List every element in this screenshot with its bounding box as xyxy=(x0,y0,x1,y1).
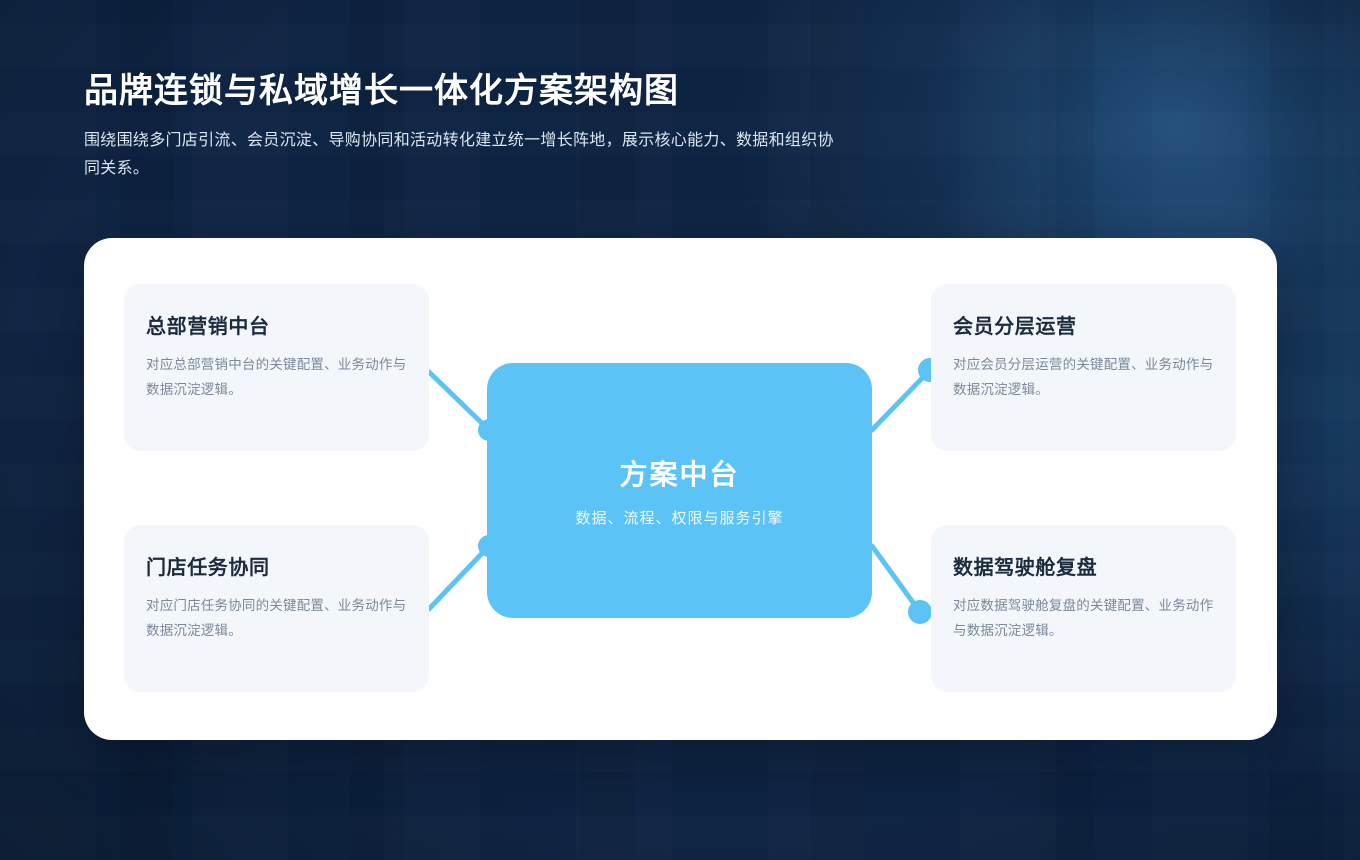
diagram-board: 总部营销中台 对应总部营销中台的关键配置、业务动作与数据沉淀逻辑。 会员分层运营… xyxy=(84,238,1277,740)
card-title: 总部营销中台 xyxy=(146,310,407,339)
card-description: 对应会员分层运营的关键配置、业务动作与数据沉淀逻辑。 xyxy=(953,353,1214,403)
hub-node[interactable]: 方案中台 数据、流程、权限与服务引擎 xyxy=(487,363,872,618)
connector-line-data-cockpit xyxy=(872,546,920,612)
page-title: 品牌连锁与私域增长一体化方案架构图 xyxy=(84,70,924,113)
page-subtitle: 围绕围绕多门店引流、会员沉淀、导购协同和活动转化建立统一增长阵地，展示核心能力、… xyxy=(84,127,844,183)
hub-title: 方案中台 xyxy=(619,453,739,493)
connector-line-total-marketing xyxy=(429,372,489,430)
connector-dot-data-cockpit xyxy=(908,600,932,624)
connector-line-member-tiering xyxy=(872,370,930,430)
card-store-task[interactable]: 门店任务协同 对应门店任务协同的关键配置、业务动作与数据沉淀逻辑。 xyxy=(124,525,429,692)
card-member-tiering[interactable]: 会员分层运营 对应会员分层运营的关键配置、业务动作与数据沉淀逻辑。 xyxy=(931,284,1236,451)
card-title: 门店任务协同 xyxy=(146,551,407,580)
connector-line-store-task xyxy=(429,546,489,609)
card-title: 数据驾驶舱复盘 xyxy=(953,551,1214,580)
card-description: 对应门店任务协同的关键配置、业务动作与数据沉淀逻辑。 xyxy=(146,594,407,644)
card-title: 会员分层运营 xyxy=(953,310,1214,339)
card-description: 对应数据驾驶舱复盘的关键配置、业务动作与数据沉淀逻辑。 xyxy=(953,594,1214,644)
card-total-marketing[interactable]: 总部营销中台 对应总部营销中台的关键配置、业务动作与数据沉淀逻辑。 xyxy=(124,284,429,451)
hub-subtitle: 数据、流程、权限与服务引擎 xyxy=(575,507,783,528)
card-data-cockpit[interactable]: 数据驾驶舱复盘 对应数据驾驶舱复盘的关键配置、业务动作与数据沉淀逻辑。 xyxy=(931,525,1236,692)
card-description: 对应总部营销中台的关键配置、业务动作与数据沉淀逻辑。 xyxy=(146,353,407,403)
header: 品牌连锁与私域增长一体化方案架构图 围绕围绕多门店引流、会员沉淀、导购协同和活动… xyxy=(84,70,924,183)
